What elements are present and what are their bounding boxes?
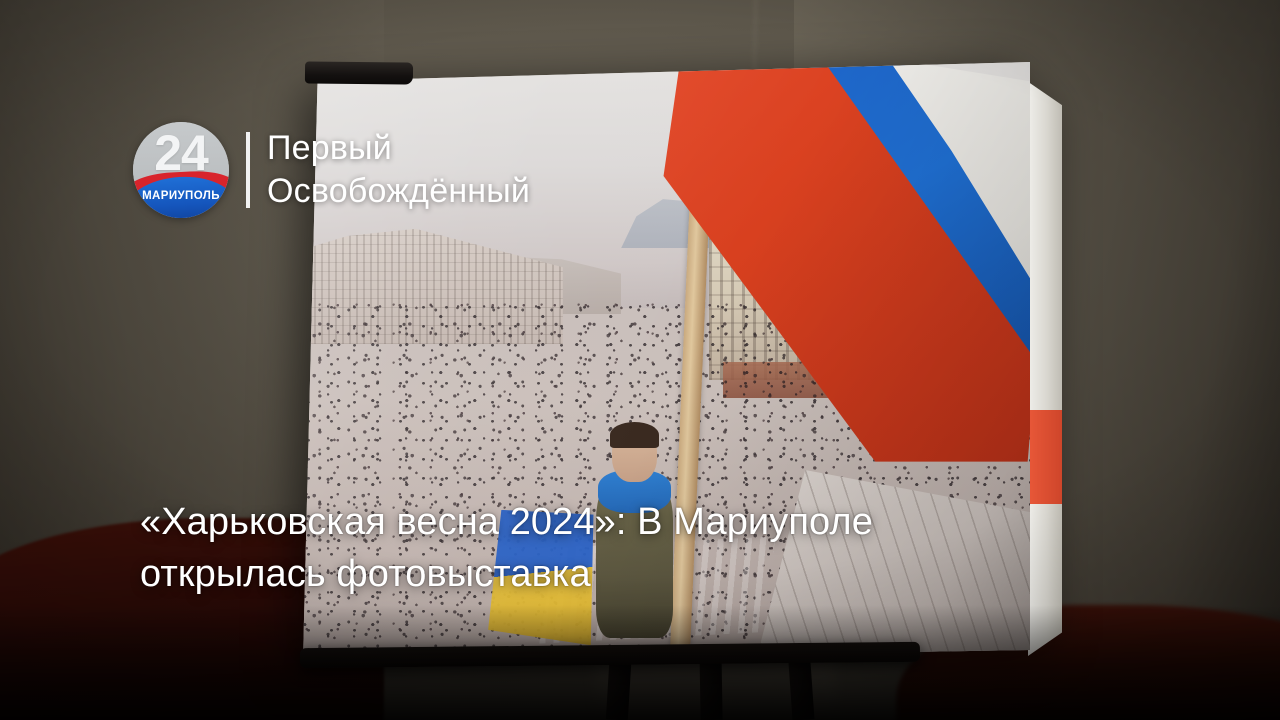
news-headline: «Харьковская весна 2024»: В Мариуполе от… — [140, 496, 1040, 601]
logo-city-name: МАРИУПОЛЬ — [133, 190, 229, 202]
mariupol-24-logo: 24 МАРИУПОЛЬ — [133, 122, 229, 218]
floor-shadow — [0, 605, 1280, 720]
logo-channel-number: 24 — [133, 128, 229, 178]
canvas-clamp — [305, 61, 413, 84]
video-frame: 24 МАРИУПОЛЬ Первый Освобождённый «Харьк… — [0, 0, 1280, 720]
brand-divider — [246, 132, 250, 208]
broadcast-brand-bug: 24 МАРИУПОЛЬ Первый Освобождённый — [133, 122, 530, 218]
program-title: Первый Освобождённый — [267, 127, 530, 213]
